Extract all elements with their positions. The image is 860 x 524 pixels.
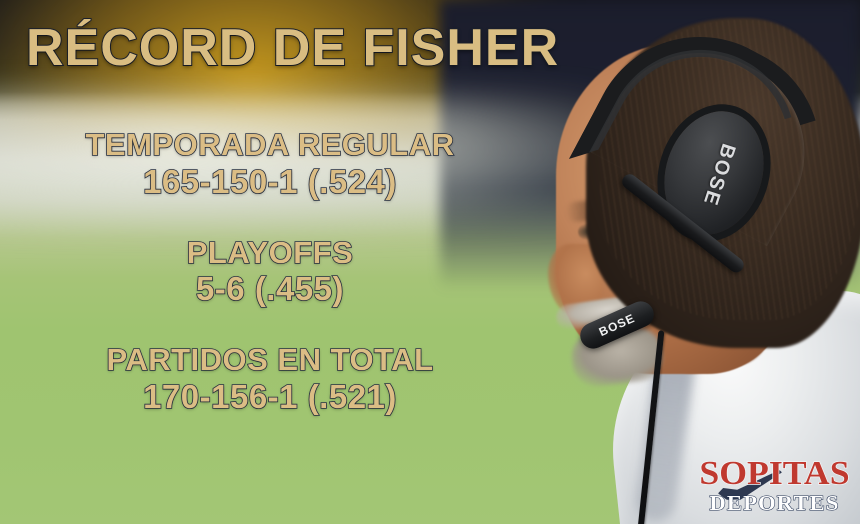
stat-value: 5-6 (.455) — [0, 270, 540, 309]
stat-block-regular-season: TEMPORADA REGULAR 165-150-1 (.524) — [0, 128, 540, 202]
page-title: RÉCORD DE FISHER — [26, 22, 559, 74]
stat-block-total-games: PARTIDOS EN TOTAL 170-156-1 (.521) — [0, 343, 540, 417]
stat-label: TEMPORADA REGULAR — [0, 128, 540, 163]
logo-tagline: DEPORTES — [697, 493, 851, 514]
logo-wordmark: SOPITAS — [699, 457, 849, 491]
stat-block-playoffs: PLAYOFFS 5-6 (.455) — [0, 236, 540, 310]
sopitas-deportes-logo: SOPITAS DEPORTES — [703, 457, 846, 514]
sports-stat-graphic: BOSE BOSE RÉCORD DE FISHER TEMPORADA REG… — [0, 0, 860, 524]
stat-label: PLAYOFFS — [0, 236, 540, 271]
stat-label: PARTIDOS EN TOTAL — [0, 343, 540, 378]
stats-list: TEMPORADA REGULAR 165-150-1 (.524) PLAYO… — [0, 128, 540, 417]
stat-value: 170-156-1 (.521) — [0, 378, 540, 417]
stat-value: 165-150-1 (.524) — [0, 163, 540, 202]
